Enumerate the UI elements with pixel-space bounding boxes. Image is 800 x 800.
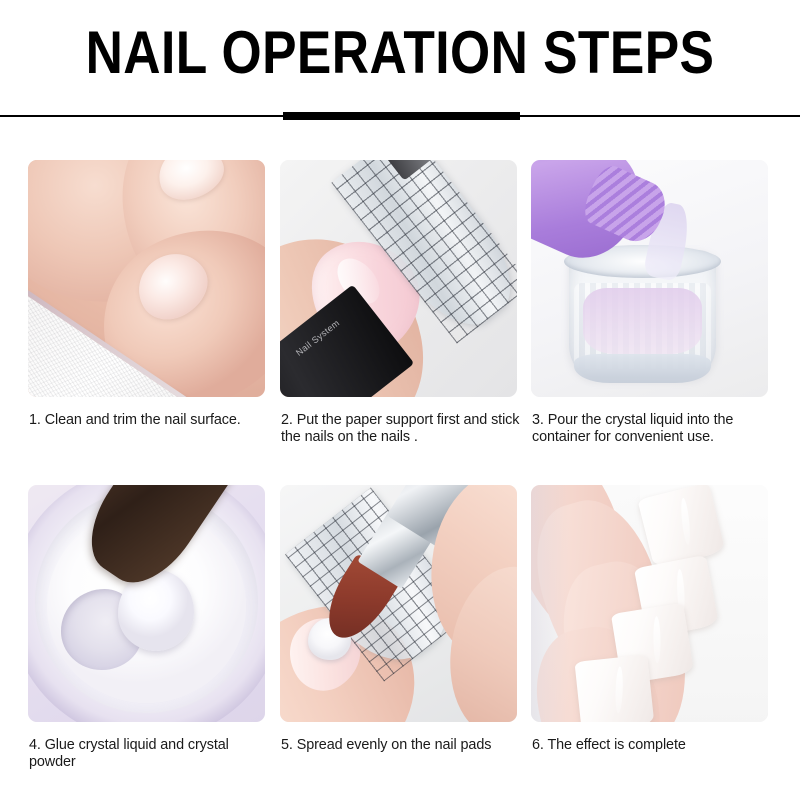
finished-nails-image (531, 485, 768, 722)
hand-with-nail-file-image (28, 160, 265, 397)
page-header: NAIL OPERATION STEPS (0, 0, 800, 120)
step-photo-6 (531, 485, 768, 722)
step-card-3: 3. Pour the crystal liquid into the cont… (531, 160, 768, 460)
pouring-crystal-liquid-image (531, 160, 768, 397)
acrylic-powder-jar-image (28, 485, 265, 722)
step-caption-6: 6. The effect is complete (532, 737, 774, 754)
page-title: NAIL OPERATION STEPS (56, 22, 744, 84)
nail-operation-steps-page: NAIL OPERATION STEPS (0, 0, 800, 800)
steps-grid: 1. Clean and trim the nail surface. Nail… (28, 160, 772, 780)
step-photo-1 (28, 160, 265, 397)
step-caption-2: 2. Put the paper support first and stick… (281, 412, 527, 445)
step-caption-4: 4. Glue crystal liquid and crystal powde… (29, 737, 275, 770)
step-card-2: Nail System 2. Put the paper support fir… (280, 160, 517, 460)
step-card-6: 6. The effect is complete (531, 485, 768, 785)
title-divider (0, 112, 800, 120)
finger-with-nail-form-image: Nail System (280, 160, 517, 397)
step-card-5: 5. Spread evenly on the nail pads (280, 485, 517, 785)
steps-row-2: 4. Glue crystal liquid and crystal powde… (28, 485, 772, 785)
step-card-4: 4. Glue crystal liquid and crystal powde… (28, 485, 265, 785)
step-photo-3 (531, 160, 768, 397)
step-caption-3: 3. Pour the crystal liquid into the cont… (532, 412, 774, 445)
steps-row-1: 1. Clean and trim the nail surface. Nail… (28, 160, 772, 460)
spreading-acrylic-image (280, 485, 517, 722)
divider-thick-bar (283, 112, 520, 120)
step-card-1: 1. Clean and trim the nail surface. (28, 160, 265, 460)
step-photo-4 (28, 485, 265, 722)
step-caption-5: 5. Spread evenly on the nail pads (281, 737, 527, 754)
step-photo-5 (280, 485, 517, 722)
step-photo-2: Nail System (280, 160, 517, 397)
step-caption-1: 1. Clean and trim the nail surface. (29, 412, 275, 429)
